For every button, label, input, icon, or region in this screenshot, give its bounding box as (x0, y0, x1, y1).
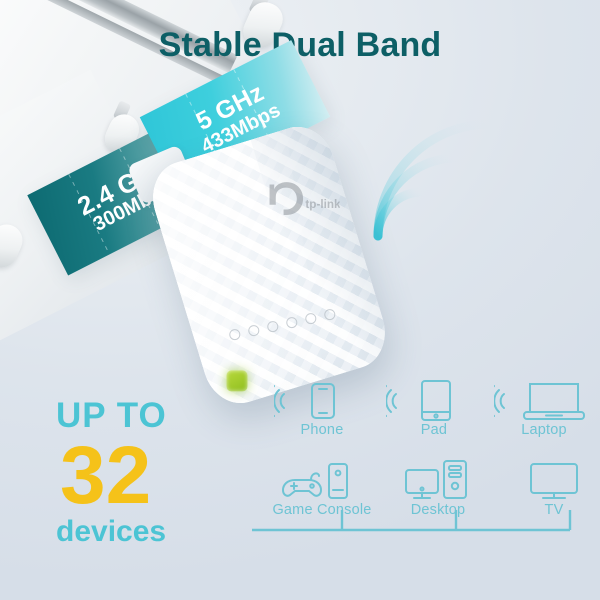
client-phone: Phone (270, 378, 374, 438)
capacity-suffix: devices (56, 517, 246, 547)
power-button[interactable] (226, 370, 247, 391)
connected-devices-grid: Phone Pad (252, 378, 596, 548)
device-body (144, 118, 395, 411)
led-signal-icon (286, 317, 297, 328)
client-desktop: Desktop (386, 458, 490, 518)
client-label: Phone (270, 422, 374, 438)
product-feature-image: Stable Dual Band 2.4 GHz 300Mbps 5 GHz 4… (0, 0, 600, 600)
capacity-callout: UP TO 32 devices (56, 398, 246, 547)
led-2ghz-icon (248, 325, 259, 336)
tp-link-logo: tp-link (262, 180, 340, 216)
client-label: Laptop (492, 422, 596, 438)
tablet-icon (386, 380, 482, 422)
client-laptop: Laptop (492, 378, 596, 438)
wifi-broadcast-arcs (372, 104, 522, 244)
led-5ghz-icon (267, 321, 278, 332)
client-game-console: Game Console (266, 458, 378, 518)
svg-text:tp-link: tp-link (305, 198, 339, 211)
capacity-number: 32 (60, 437, 246, 515)
client-label: TV (502, 502, 600, 518)
led-power-icon (229, 329, 240, 340)
device-led-row (229, 313, 347, 343)
phone-icon (274, 380, 370, 422)
client-label: Pad (382, 422, 486, 438)
client-pad: Pad (382, 378, 486, 438)
capacity-prefix: UP TO (56, 398, 246, 433)
client-label: Desktop (386, 502, 490, 518)
desktop-icon (392, 460, 484, 502)
client-label: Game Console (266, 502, 378, 518)
tv-icon (513, 460, 595, 502)
game-console-icon (279, 460, 365, 502)
led-wps-icon (305, 313, 316, 324)
wifi-range-extender-device: tp-link (144, 118, 395, 411)
led-ethernet-icon (324, 309, 335, 320)
laptop-icon (494, 380, 594, 422)
client-tv: TV (502, 458, 600, 518)
